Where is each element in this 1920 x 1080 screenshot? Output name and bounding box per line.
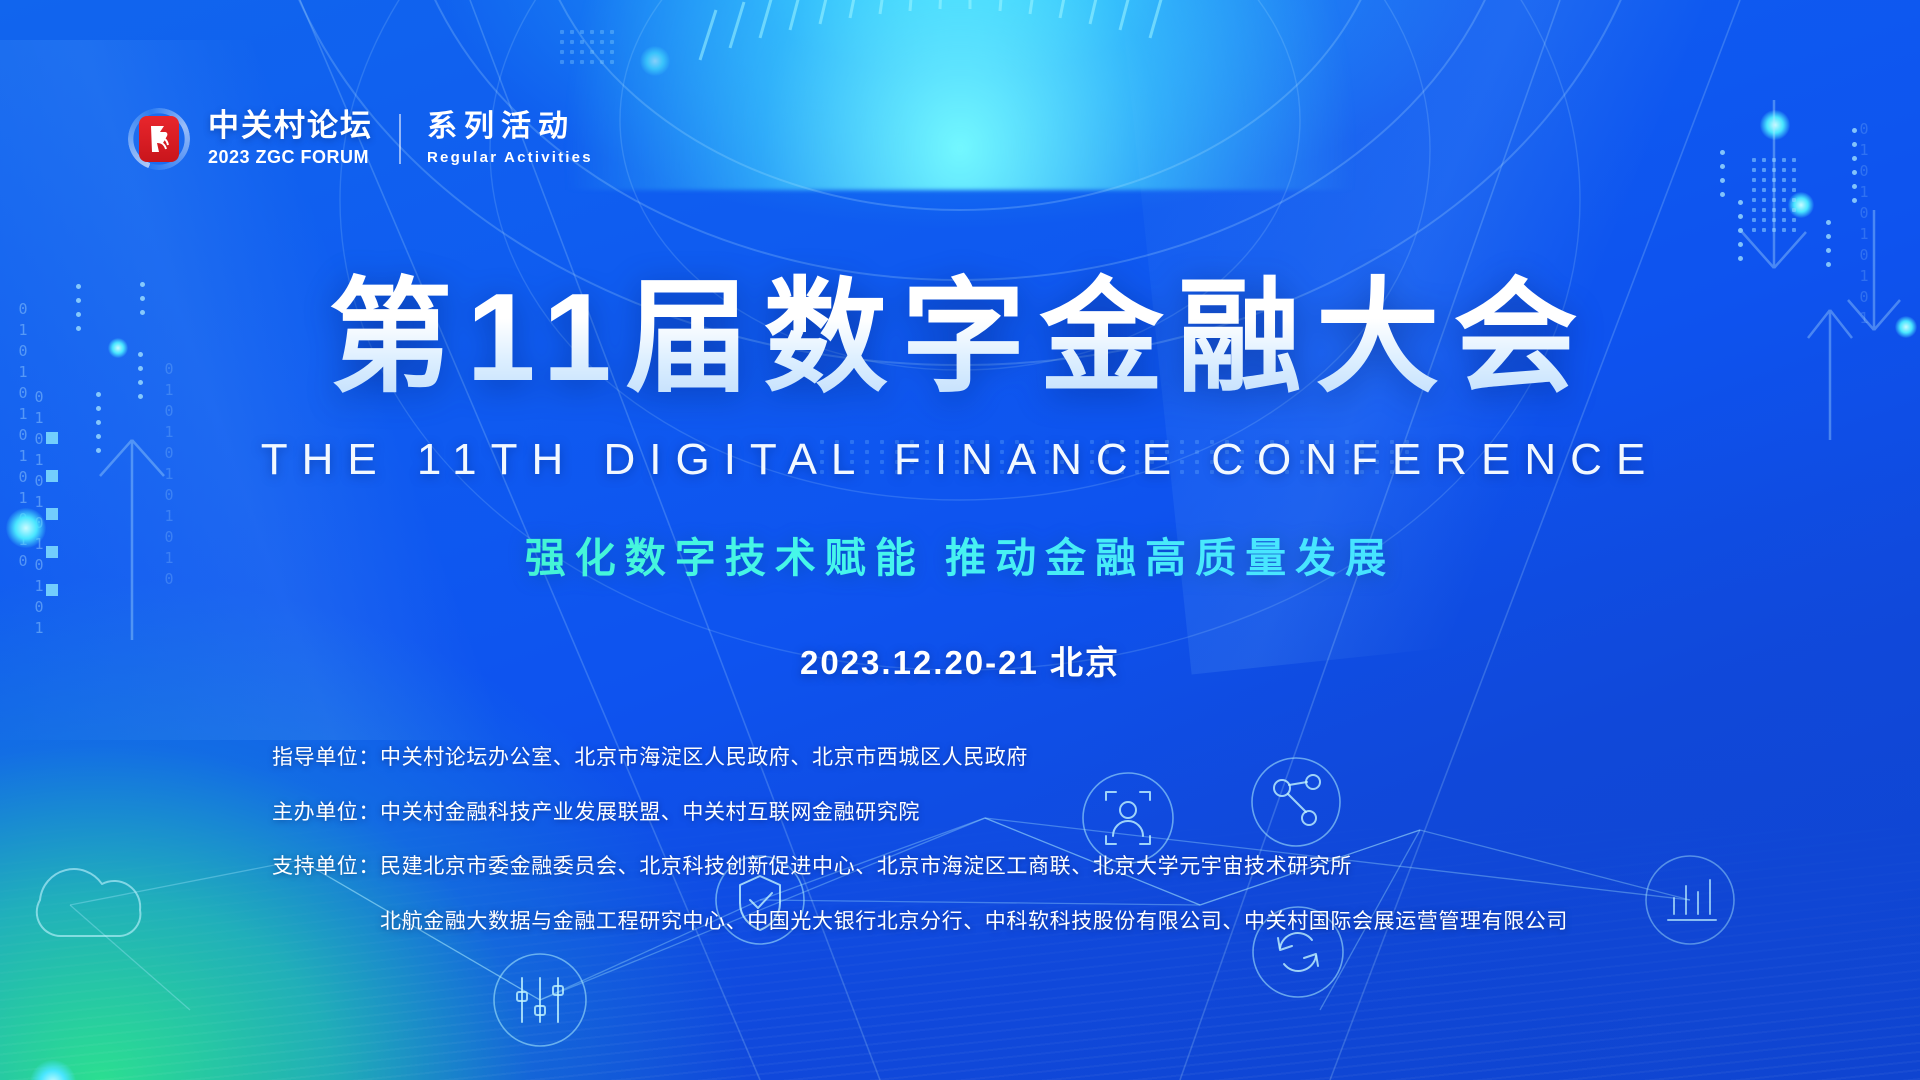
dot-matrix bbox=[560, 30, 614, 64]
glow-dot bbox=[640, 46, 670, 76]
date-location: 2023.12.20-21 北京 bbox=[0, 636, 1920, 684]
logo-cn-name: 中关村论坛 bbox=[208, 109, 373, 142]
glow-dot bbox=[1788, 192, 1814, 218]
page-tagline: 强化数字技术赋能 推动金融高质量发展 bbox=[0, 524, 1920, 584]
glow-dot bbox=[1760, 110, 1790, 140]
page-title: 第11届数字金融大会 bbox=[0, 236, 1920, 416]
organizer-list: 指导单位：中关村论坛办公室、北京市海淀区人民政府、北京市西城区人民政府 主办单位… bbox=[0, 742, 1920, 938]
organizer-line: 北航金融大数据与金融工程研究中心、中国光大银行北京分行、中科软科技股份有限公司、… bbox=[0, 906, 1920, 939]
square-dot bbox=[46, 584, 58, 596]
organizer-line: 指导单位：中关村论坛办公室、北京市海淀区人民政府、北京市西城区人民政府 bbox=[0, 742, 1920, 775]
organizer-line: 主办单位：中关村金融科技产业发展联盟、中关村互联网金融研究院 bbox=[0, 797, 1920, 830]
top-glow bbox=[560, 0, 1360, 190]
page-subtitle-en: THE 11TH DIGITAL FINANCE CONFERENCE bbox=[0, 435, 1920, 485]
logo-en-name: 2023 ZGC FORUM bbox=[208, 146, 373, 169]
logo-text-block: 中关村论坛 2023 ZGC FORUM 系列活动 Regular Activi… bbox=[208, 109, 593, 169]
zgc-forum-emblem bbox=[128, 108, 190, 170]
square-dot bbox=[46, 508, 58, 520]
dot-column bbox=[1852, 128, 1857, 203]
logo-series-cn: 系列活动 bbox=[427, 110, 593, 143]
dot-matrix bbox=[1752, 158, 1796, 232]
dot-column bbox=[1720, 150, 1725, 197]
conference-poster: 0101010101010 010101010101 01010101010 0… bbox=[0, 0, 1920, 1080]
binary-text: 010101010101 bbox=[30, 388, 48, 640]
zgc-forum-logo: 中关村论坛 2023 ZGC FORUM 系列活动 Regular Activi… bbox=[128, 108, 593, 170]
equalizer-icon bbox=[494, 954, 586, 1046]
emblem-badge bbox=[139, 116, 179, 162]
glow-dot bbox=[30, 1060, 76, 1080]
logo-series-en: Regular Activities bbox=[427, 148, 593, 168]
organizer-line: 支持单位：民建北京市委金融委员会、北京科技创新促进中心、北京市海淀区工商联、北京… bbox=[0, 851, 1920, 884]
emblem-p-mark bbox=[146, 123, 172, 155]
logo-divider bbox=[399, 114, 401, 164]
